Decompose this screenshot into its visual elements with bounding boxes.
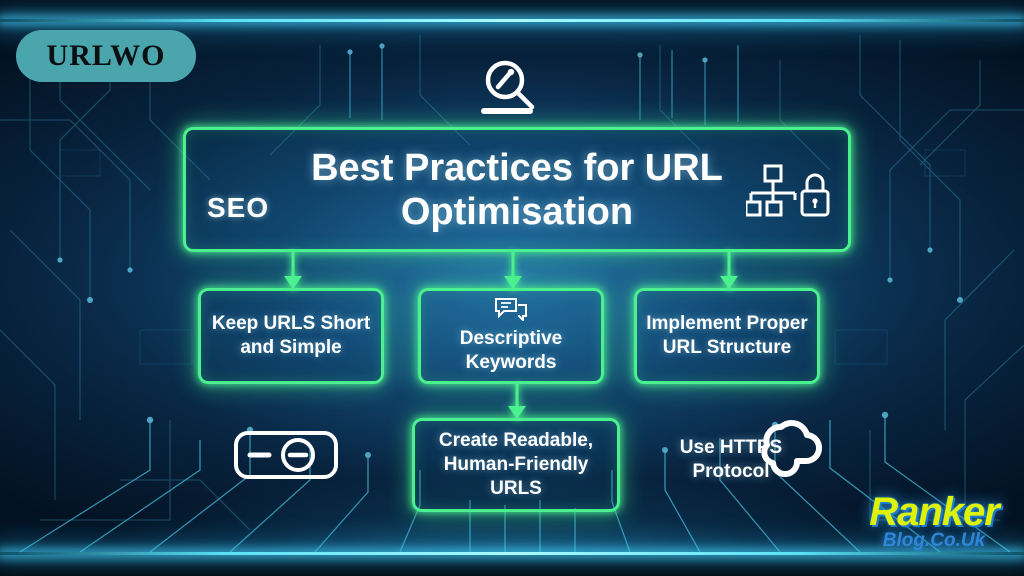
- arrow-title-to-structure: [719, 252, 739, 288]
- practice-box-proper-url-structure: Implement Proper URL Structure: [634, 288, 820, 384]
- practice-label: Descriptive Keywords: [421, 327, 601, 375]
- watermark-logo: Ranker Blog.Co.Uk: [854, 492, 1014, 564]
- practice-label: Keep URLS Short and Simple: [201, 312, 381, 360]
- infographic-canvas: URLWO SEO Best Practices for URL Optimis…: [0, 0, 1024, 576]
- title-box: SEO Best Practices for URL Optimisation: [183, 127, 851, 252]
- chat-bubbles-icon: [494, 297, 528, 321]
- arrow-head: [720, 276, 738, 289]
- brand-logo-text: URLWO: [47, 39, 166, 73]
- practice-box-create-readable-urls: Create Readable, Human-Friendly URLS: [412, 418, 620, 512]
- seo-label: SEO: [207, 192, 269, 224]
- arrow-keywords-to-readable: [507, 384, 527, 418]
- practice-label: Implement Proper URL Structure: [637, 312, 817, 360]
- magnifier-speed-icon: [472, 56, 548, 118]
- top-edge-band: [0, 0, 1024, 19]
- page-title: Best Practices for URL Optimisation: [272, 146, 762, 234]
- url-bar-remove-icon: [233, 425, 339, 485]
- arrow-head: [508, 406, 526, 419]
- arrow-title-to-keywords: [503, 252, 523, 288]
- practice-label: Create Readable, Human-Friendly URLS: [415, 429, 617, 501]
- practice-box-descriptive-keywords: Descriptive Keywords: [418, 288, 604, 384]
- cloud-icon: [745, 415, 823, 483]
- brand-logo[interactable]: URLWO: [16, 30, 196, 82]
- arrow-head: [284, 276, 302, 289]
- sitemap-lock-icon: [746, 162, 832, 224]
- arrow-title-to-short: [283, 252, 303, 288]
- arrow-head: [504, 276, 522, 289]
- top-glow-rule: [0, 19, 1024, 22]
- practice-box-keep-urls-short: Keep URLS Short and Simple: [198, 288, 384, 384]
- watermark-main-text: Ranker: [854, 492, 1014, 532]
